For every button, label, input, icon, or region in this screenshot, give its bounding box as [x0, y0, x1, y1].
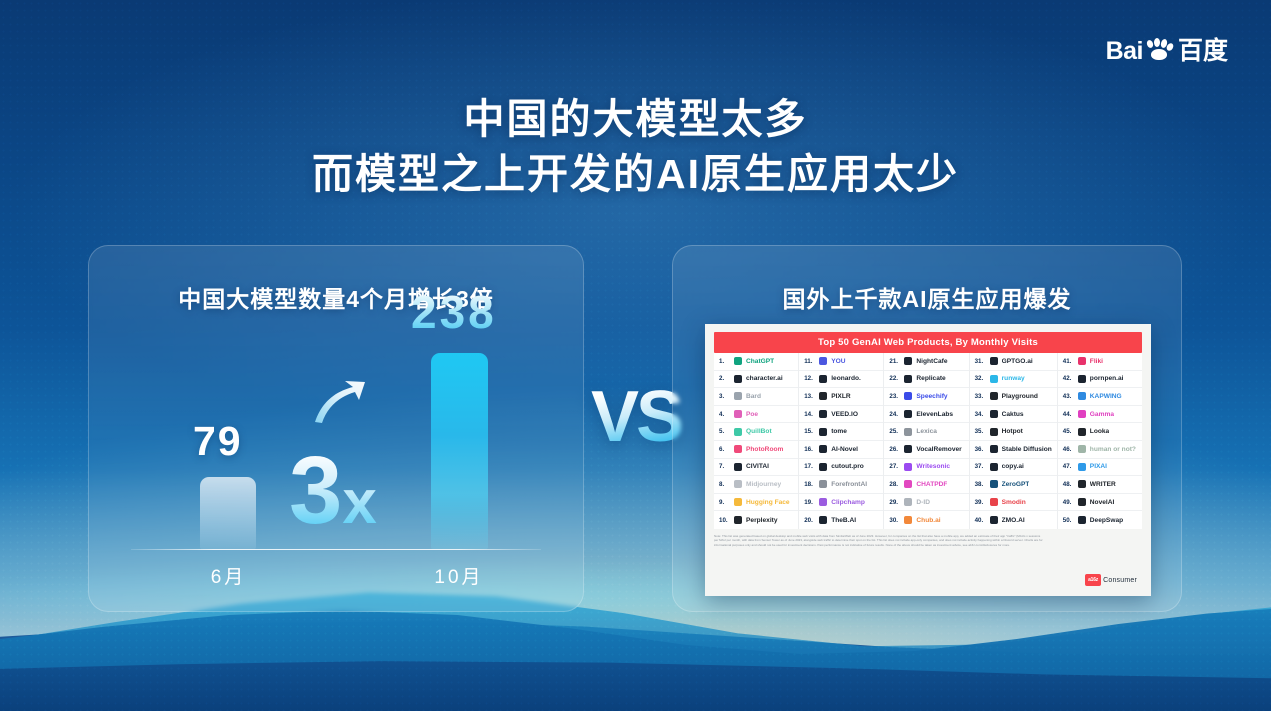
table-row[interactable]: 36.Stable Diffusion [970, 441, 1057, 459]
product-name: Hugging Face [746, 499, 790, 506]
product-logo-icon [1078, 428, 1086, 436]
product-name: PIXAI [1090, 463, 1107, 470]
chart-baseline [131, 549, 541, 550]
table-row[interactable]: 43.KAPWING [1058, 388, 1142, 406]
table-row[interactable]: 34.Caktus [970, 406, 1057, 424]
product-name: NovelAI [1090, 499, 1115, 506]
table-row[interactable]: 33.Playground [970, 388, 1057, 406]
product-logo-icon [904, 480, 912, 488]
multiplier-unit: x [342, 468, 376, 537]
product-name: Caktus [1002, 411, 1024, 418]
product-rank: 33. [975, 393, 986, 400]
product-logo-icon [904, 375, 912, 383]
table-row[interactable]: 14.VEED.IO [799, 406, 883, 424]
product-logo-icon [1078, 445, 1086, 453]
a16z-top50-card: Top 50 GenAI Web Products, By Monthly Vi… [705, 324, 1151, 596]
product-name: VocalRemover [916, 446, 961, 453]
table-row[interactable]: 39.Smodin [970, 494, 1057, 512]
table-row[interactable]: 10.Perplexity [714, 511, 798, 529]
table-row[interactable]: 28.CHATPDF [884, 476, 968, 494]
table-row[interactable]: 19.Clipchamp [799, 494, 883, 512]
product-logo-icon [819, 445, 827, 453]
product-name: pornpen.ai [1090, 375, 1124, 382]
product-logo-icon [819, 480, 827, 488]
product-name: ZeroGPT [1002, 481, 1030, 488]
product-logo-icon [734, 410, 742, 418]
product-rank: 37. [975, 463, 986, 470]
product-rank: 46. [1063, 446, 1074, 453]
table-row[interactable]: 37.copy.ai [970, 459, 1057, 477]
product-logo-icon [1078, 410, 1086, 418]
product-rank: 50. [1063, 517, 1074, 524]
product-name: leonardo. [831, 375, 861, 382]
a16z-badge: a16z [1085, 574, 1101, 586]
product-rank: 3. [719, 393, 730, 400]
product-name: character.ai [746, 375, 783, 382]
product-name: KAPWING [1090, 393, 1122, 400]
table-row[interactable]: 5.QuillBot [714, 423, 798, 441]
table-row[interactable]: 31.GPTGO.ai [970, 353, 1057, 371]
product-logo-icon [990, 428, 998, 436]
product-name: cutout.pro [831, 463, 864, 470]
a16z-label: Consumer [1103, 577, 1137, 584]
multiplier-value: 3 [289, 437, 342, 544]
product-name: CHATPDF [916, 481, 947, 488]
product-logo-icon [904, 428, 912, 436]
logo-text: Bai [1106, 39, 1143, 64]
product-rank: 23. [889, 393, 900, 400]
product-rank: 34. [975, 411, 986, 418]
table-row[interactable]: 20.TheB.AI [799, 511, 883, 529]
table-row[interactable]: 12.leonardo. [799, 371, 883, 389]
product-name: ElevenLabs [916, 411, 953, 418]
product-rank: 17. [804, 463, 815, 470]
product-name: Replicate [916, 375, 945, 382]
product-logo-icon [734, 392, 742, 400]
product-column: 11.YOU12.leonardo.13.PIXLR14.VEED.IO15.t… [799, 353, 884, 529]
product-name: Bard [746, 393, 761, 400]
product-logo-icon [734, 357, 742, 365]
product-name: runway [1002, 375, 1025, 382]
baidu-paw-icon [1146, 38, 1172, 60]
product-name: Speechify [916, 393, 947, 400]
a16z-logo: a16z Consumer [1085, 574, 1137, 586]
product-rank: 9. [719, 499, 730, 506]
product-rank: 36. [975, 446, 986, 453]
product-rank: 1. [719, 358, 730, 365]
bar-value-october: 238 [411, 285, 497, 339]
product-rank: 14. [804, 411, 815, 418]
product-rank: 30. [889, 517, 900, 524]
table-row[interactable]: 4.Poe [714, 406, 798, 424]
product-name: Lexica [916, 428, 937, 435]
table-row[interactable]: 16.AI-Novel [799, 441, 883, 459]
product-logo-icon [990, 375, 998, 383]
table-row[interactable]: 44.Gamma [1058, 406, 1142, 424]
product-logo-icon [734, 375, 742, 383]
product-logo-icon [1078, 392, 1086, 400]
product-rank: 5. [719, 428, 730, 435]
product-column: 21.NightCafe22.Replicate23.Speechify24.E… [884, 353, 969, 529]
product-name: Hotpot [1002, 428, 1023, 435]
table-row[interactable]: 35.Hotpot [970, 423, 1057, 441]
product-logo-icon [904, 392, 912, 400]
product-logo-icon [990, 357, 998, 365]
bar-october [431, 353, 488, 549]
table-row[interactable]: 47.PIXAI [1058, 459, 1142, 477]
product-logo-icon [734, 428, 742, 436]
product-logo-icon [819, 375, 827, 383]
product-name: AI-Novel [831, 446, 858, 453]
product-rank: 24. [889, 411, 900, 418]
table-row[interactable]: 7.CIVITAI [714, 459, 798, 477]
bar-label-june: 6月 [181, 562, 276, 589]
product-name: ForefrontAI [831, 481, 867, 488]
product-logo-icon [1078, 498, 1086, 506]
title-line-1: 中国的大模型太多 [0, 92, 1271, 147]
table-row[interactable]: 30.Chub.ai [884, 511, 968, 529]
table-row[interactable]: 49.NovelAI [1058, 494, 1142, 512]
table-row[interactable]: 27.Writesonic [884, 459, 968, 477]
table-row[interactable]: 1.ChatGPT [714, 353, 798, 371]
product-logo-icon [904, 463, 912, 471]
table-row[interactable]: 46.human or not? [1058, 441, 1142, 459]
product-name: PhotoRoom [746, 446, 783, 453]
product-name: GPTGO.ai [1002, 358, 1033, 365]
product-name: Poe [746, 411, 758, 418]
product-rank: 2. [719, 375, 730, 382]
product-name: ZMO.AI [1002, 517, 1025, 524]
product-rank: 6. [719, 446, 730, 453]
table-row[interactable]: 24.ElevenLabs [884, 406, 968, 424]
product-column: 41.Fliki42.pornpen.ai43.KAPWING44.Gamma4… [1058, 353, 1142, 529]
product-rank: 48. [1063, 481, 1074, 488]
table-row[interactable]: 8.Midjourney [714, 476, 798, 494]
card-banner: Top 50 GenAI Web Products, By Monthly Vi… [714, 332, 1142, 353]
product-name: Gamma [1090, 411, 1114, 418]
product-name: CIVITAI [746, 463, 769, 470]
table-row[interactable]: 22.Replicate [884, 371, 968, 389]
product-name: ChatGPT [746, 358, 774, 365]
product-logo-icon [819, 357, 827, 365]
product-name: PIXLR [831, 393, 850, 400]
table-row[interactable]: 29.D-ID [884, 494, 968, 512]
product-logo-icon [819, 463, 827, 471]
product-name: Midjourney [746, 481, 781, 488]
card-footnote: Note: This list was generated based on g… [714, 534, 1044, 547]
table-row[interactable]: 13.PIXLR [799, 388, 883, 406]
product-logo-icon [904, 516, 912, 524]
product-name: Looka [1090, 428, 1109, 435]
product-logo-icon [1078, 480, 1086, 488]
product-rank: 4. [719, 411, 730, 418]
product-name: WRITER [1090, 481, 1116, 488]
product-name: human or not? [1090, 446, 1136, 453]
product-name: Smodin [1002, 499, 1026, 506]
table-row[interactable]: 25.Lexica [884, 423, 968, 441]
product-name: Chub.ai [916, 517, 940, 524]
product-logo-icon [1078, 516, 1086, 524]
product-logo-icon [990, 516, 998, 524]
table-row[interactable]: 45.Looka [1058, 423, 1142, 441]
product-rank: 35. [975, 428, 986, 435]
product-logo-icon [1078, 375, 1086, 383]
product-logo-icon [819, 516, 827, 524]
product-rank: 42. [1063, 375, 1074, 382]
product-logo-icon [904, 357, 912, 365]
product-logo-icon [819, 410, 827, 418]
product-rank: 41. [1063, 358, 1074, 365]
product-column: 1.ChatGPT2.character.ai3.Bard4.Poe5.Quil… [714, 353, 799, 529]
product-rank: 47. [1063, 463, 1074, 470]
product-logo-icon [819, 498, 827, 506]
product-logo-icon [990, 410, 998, 418]
right-panel: 国外上千款AI原生应用爆发 Top 50 GenAI Web Products,… [672, 245, 1182, 612]
table-row[interactable]: 38.ZeroGPT [970, 476, 1057, 494]
table-row[interactable]: 26.VocalRemover [884, 441, 968, 459]
table-row[interactable]: 17.cutout.pro [799, 459, 883, 477]
product-rank: 20. [804, 517, 815, 524]
table-row[interactable]: 40.ZMO.AI [970, 511, 1057, 529]
product-logo-icon [734, 498, 742, 506]
product-rank: 18. [804, 481, 815, 488]
table-row[interactable]: 42.pornpen.ai [1058, 371, 1142, 389]
product-rank: 21. [889, 358, 900, 365]
table-row[interactable]: 15.tome [799, 423, 883, 441]
product-column: 31.GPTGO.ai32.runway33.Playground34.Cakt… [970, 353, 1058, 529]
baidu-logo: Bai 百度 [1106, 38, 1228, 65]
product-rank: 38. [975, 481, 986, 488]
bar-label-october: 10月 [409, 562, 509, 589]
growth-multiplier: 3x [289, 443, 377, 539]
product-rank: 12. [804, 375, 815, 382]
table-row[interactable]: 32.runway [970, 371, 1057, 389]
product-logo-icon [1078, 357, 1086, 365]
product-name: YOU [831, 358, 845, 365]
product-name: Clipchamp [831, 499, 865, 506]
left-panel-title: 中国大模型数量4个月增长3倍 [89, 280, 583, 314]
product-rank: 10. [719, 517, 730, 524]
logo-cn-text: 百度 [1178, 39, 1228, 64]
page-title: 中国的大模型太多 而模型之上开发的AI原生应用太少 [0, 92, 1271, 203]
title-line-2: 而模型之上开发的AI原生应用太少 [0, 147, 1271, 202]
left-panel: 中国大模型数量4个月增长3倍 79 238 6月 10月 3x [88, 245, 584, 612]
product-logo-icon [734, 463, 742, 471]
product-rank: 39. [975, 499, 986, 506]
product-logo-icon [904, 498, 912, 506]
product-logo-icon [1078, 463, 1086, 471]
product-logo-icon [990, 480, 998, 488]
table-row[interactable]: 41.Fliki [1058, 353, 1142, 371]
product-logo-icon [904, 410, 912, 418]
product-rank: 26. [889, 446, 900, 453]
product-name: tome [831, 428, 847, 435]
product-logo-icon [990, 463, 998, 471]
product-rank: 45. [1063, 428, 1074, 435]
table-row[interactable]: 18.ForefrontAI [799, 476, 883, 494]
table-row[interactable]: 50.DeepSwap [1058, 511, 1142, 529]
table-row[interactable]: 23.Speechify [884, 388, 968, 406]
product-logo-icon [990, 498, 998, 506]
product-name: Perplexity [746, 517, 778, 524]
product-rank: 28. [889, 481, 900, 488]
product-name: Fliki [1090, 358, 1103, 365]
product-name: Stable Diffusion [1002, 446, 1052, 453]
vs-badge: VS [591, 381, 681, 453]
table-row[interactable]: 3.Bard [714, 388, 798, 406]
product-logo-icon [819, 392, 827, 400]
product-rank: 15. [804, 428, 815, 435]
product-name: TheB.AI [831, 517, 856, 524]
product-rank: 25. [889, 428, 900, 435]
product-rank: 31. [975, 358, 986, 365]
product-rank: 19. [804, 499, 815, 506]
product-rank: 22. [889, 375, 900, 382]
table-row[interactable]: 48.WRITER [1058, 476, 1142, 494]
bar-value-june: 79 [193, 418, 243, 465]
product-rank: 27. [889, 463, 900, 470]
product-logo-icon [734, 480, 742, 488]
product-rank: 43. [1063, 393, 1074, 400]
table-row[interactable]: 9.Hugging Face [714, 494, 798, 512]
product-rank: 29. [889, 499, 900, 506]
product-rank: 40. [975, 517, 986, 524]
product-name: QuillBot [746, 428, 772, 435]
product-logo-icon [990, 445, 998, 453]
product-rank: 16. [804, 446, 815, 453]
arrow-up-right-icon [311, 378, 367, 426]
product-rank: 32. [975, 375, 986, 382]
product-rank: 8. [719, 481, 730, 488]
product-name: Writesonic [916, 463, 950, 470]
product-name: DeepSwap [1090, 517, 1123, 524]
product-name: NightCafe [916, 358, 947, 365]
product-logo-icon [734, 445, 742, 453]
bar-chart: 79 238 6月 10月 3x [89, 341, 583, 611]
right-panel-title: 国外上千款AI原生应用爆发 [673, 280, 1181, 314]
product-rank: 7. [719, 463, 730, 470]
product-rank: 44. [1063, 411, 1074, 418]
product-rank: 13. [804, 393, 815, 400]
product-rank: 49. [1063, 499, 1074, 506]
table-row[interactable]: 6.PhotoRoom [714, 441, 798, 459]
product-name: D-ID [916, 499, 930, 506]
product-name: copy.ai [1002, 463, 1024, 470]
product-rank: 11. [804, 358, 815, 365]
bar-june [200, 477, 256, 549]
product-name: Playground [1002, 393, 1038, 400]
product-logo-icon [734, 516, 742, 524]
table-row[interactable]: 2.character.ai [714, 371, 798, 389]
table-row[interactable]: 11.YOU [799, 353, 883, 371]
table-row[interactable]: 21.NightCafe [884, 353, 968, 371]
product-name: VEED.IO [831, 411, 858, 418]
product-logo-icon [990, 392, 998, 400]
product-logo-icon [819, 428, 827, 436]
product-table: 1.ChatGPT2.character.ai3.Bard4.Poe5.Quil… [714, 353, 1142, 529]
product-logo-icon [904, 445, 912, 453]
